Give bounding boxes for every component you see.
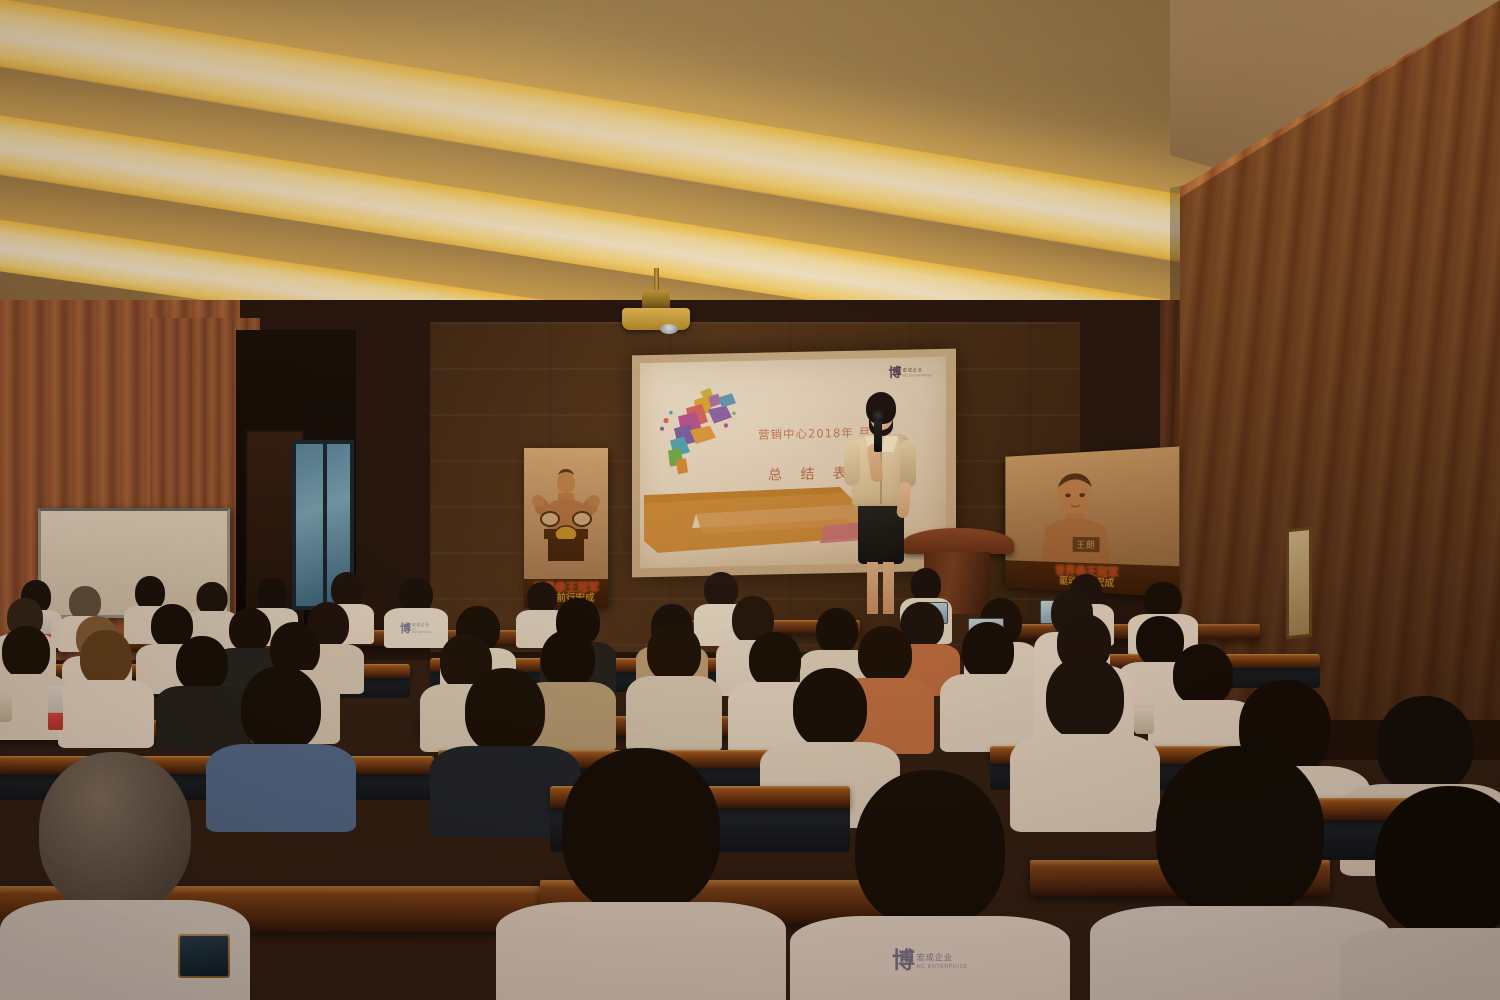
head: [39, 752, 191, 912]
head: [399, 578, 433, 612]
audience-seating: 博 宏成企业 HC ENTERPRISE: [0, 560, 1500, 1000]
head: [1144, 582, 1182, 618]
head: [2, 626, 50, 678]
logo-mark-icon: 博: [888, 366, 899, 379]
shirt-logo: 博 宏成企业 HC ENTERPRISE: [892, 944, 968, 977]
presenter-arm-right: [900, 440, 916, 488]
list-item: [496, 748, 786, 1000]
head: [465, 668, 545, 754]
head: [1377, 696, 1473, 794]
conference-room-photo: 博 宏成企业 HC ENTERPRISE: [0, 0, 1500, 1000]
presenter-forearm-right: [896, 481, 912, 518]
phone-screen: [180, 936, 228, 976]
projector-body: [622, 308, 690, 330]
water-bottle: [48, 686, 63, 730]
head: [562, 748, 720, 914]
list-item: [1340, 786, 1500, 1000]
head: [793, 668, 867, 748]
head: [1046, 656, 1124, 740]
projector: [618, 268, 694, 330]
torso: [496, 902, 786, 1000]
head: [911, 568, 941, 602]
head: [1156, 746, 1324, 918]
poster-right-athlete-label: 王朗: [1073, 537, 1100, 553]
runner-graphic-icon: [656, 385, 742, 479]
boxer-figure-icon: [530, 467, 602, 571]
presenter-arm-left: [844, 440, 860, 486]
logo-cn-text: 宏成企业: [917, 951, 968, 963]
microphone-head-icon: [872, 410, 884, 421]
slide-company-logo: 博 宏成企业 HC ENTERPRISE: [888, 365, 932, 379]
head: [855, 770, 1005, 928]
logo-mark-icon: 博: [892, 944, 910, 977]
head: [69, 586, 101, 620]
logo-en-text: HC ENTERPRISE: [902, 373, 932, 378]
projector-lens-icon: [660, 324, 678, 334]
torso: [58, 680, 154, 748]
list-item: 博 宏成企业 HC ENTERPRISE: [790, 770, 1070, 1000]
head: [257, 578, 287, 612]
projector-bracket: [642, 290, 670, 310]
head: [962, 622, 1014, 680]
head: [1375, 786, 1500, 938]
head: [80, 630, 132, 686]
list-item: [58, 630, 154, 742]
torso: [1340, 928, 1500, 1000]
torso: [626, 676, 722, 752]
paper-cup: [0, 692, 12, 722]
logo-mark-icon: 博: [400, 620, 409, 636]
head: [241, 666, 321, 752]
head: [647, 624, 701, 682]
smartphone[interactable]: [178, 934, 230, 978]
logo-en-text: HC ENTERPRISE: [917, 963, 968, 969]
list-item: [626, 624, 722, 746]
